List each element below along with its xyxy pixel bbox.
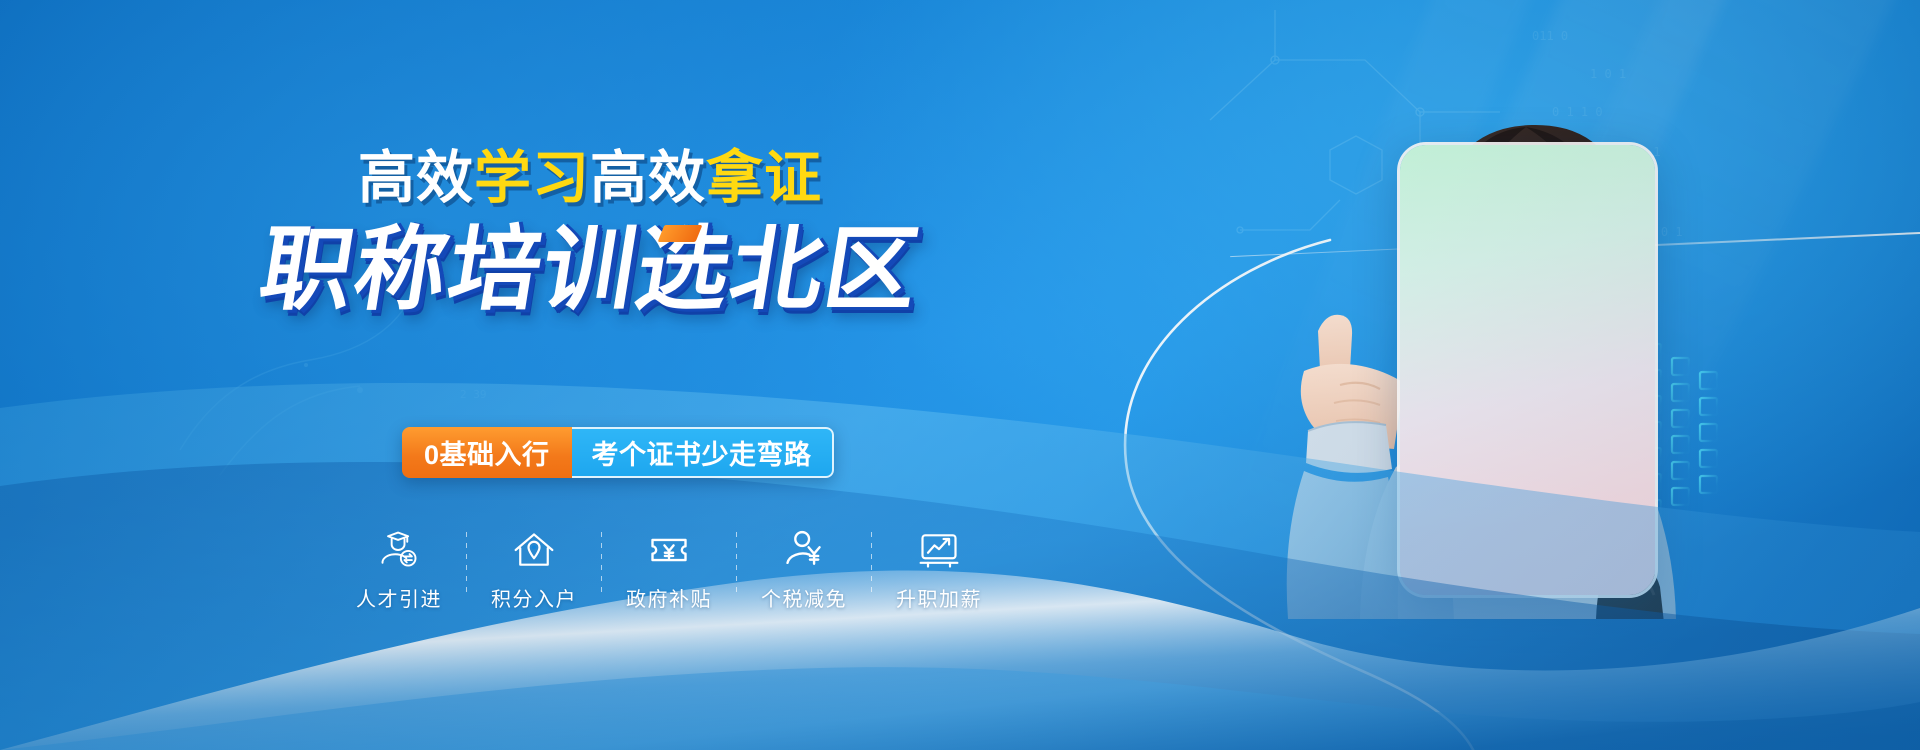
feature-label: 积分入户 <box>491 583 577 612</box>
chart-board-icon <box>917 528 961 572</box>
feature-item-tax-reduction[interactable]: 个税减免 <box>737 528 871 612</box>
tagline-pill: 0基础入行 考个证书少走弯路 <box>402 427 834 478</box>
feature-label: 个税减免 <box>761 583 847 612</box>
feature-item-government-subsidy[interactable]: 政府补贴 <box>602 528 736 612</box>
feature-label: 人才引进 <box>356 583 442 612</box>
headline-seg-3: 高效 <box>590 146 706 210</box>
feature-item-promotion-raise[interactable]: 升职加薪 <box>872 528 1006 612</box>
feature-list: 人才引进 积分入户 <box>332 528 1006 612</box>
person-yuan-icon <box>782 528 826 572</box>
tagline-highlight: 0基础入行 <box>402 427 572 478</box>
feature-label: 政府补贴 <box>626 583 712 612</box>
ticket-yuan-icon <box>647 528 691 572</box>
feature-label: 升职加薪 <box>896 583 982 612</box>
headline-seg-4: 拿证 <box>706 146 822 210</box>
headline-line-1: 高效学习高效拿证 <box>0 150 1180 207</box>
feature-item-talent-introduction[interactable]: 人才引进 <box>332 528 466 612</box>
headline-seg-1: 高效 <box>358 146 474 210</box>
promo-banner: 2 39 011 0 1 0 1 0 1 1 0 1 0 0 1 0 1 0 1… <box>0 0 1920 750</box>
vignette-overlay <box>0 0 1920 750</box>
tagline-text: 考个证书少走弯路 <box>572 427 834 478</box>
orange-accent-mark-icon <box>658 225 703 242</box>
feature-item-points-residency[interactable]: 积分入户 <box>467 528 601 612</box>
headline-seg-2: 学习 <box>474 146 590 210</box>
headline-line-2-wrap: 职称培训选北区 <box>0 221 1180 329</box>
headline-line-2: 职称培训选北区 <box>253 221 927 320</box>
house-pin-icon <box>512 528 556 572</box>
headline-block: 高效学习高效拿证 职称培训选北区 <box>0 150 1180 329</box>
graduate-person-icon <box>377 528 421 572</box>
